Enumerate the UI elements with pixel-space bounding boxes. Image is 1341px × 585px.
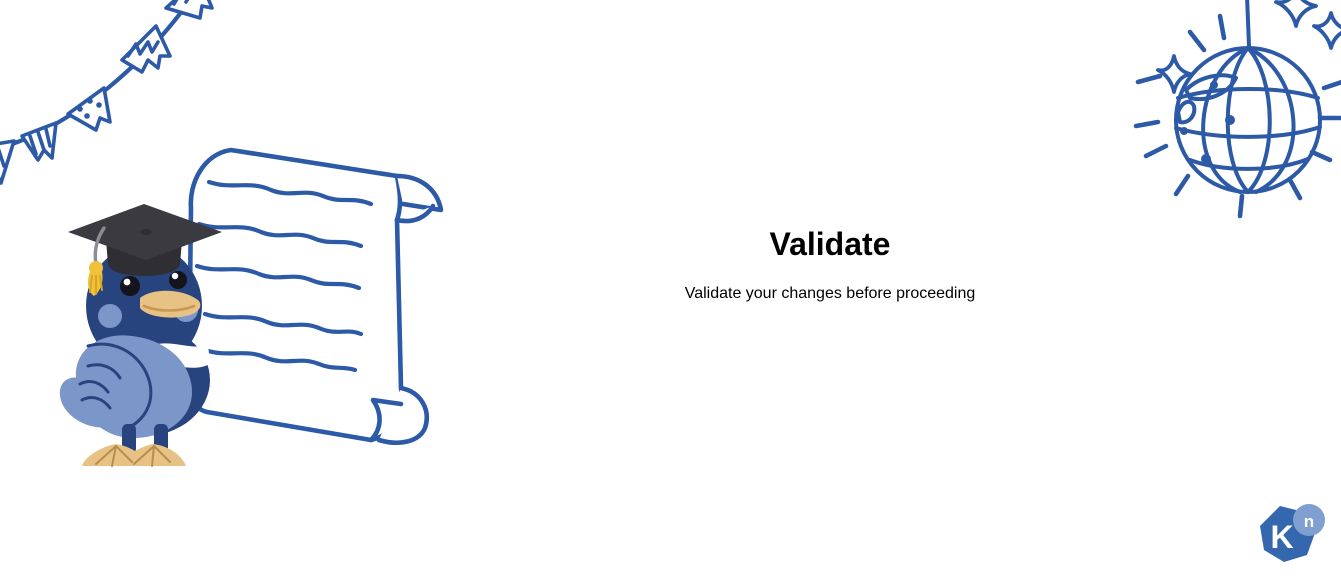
bunting-decoration-icon — [0, 0, 230, 185]
graduate-bird-mascot — [52, 188, 242, 473]
page-subtitle: Validate your changes before proceeding — [460, 285, 1200, 303]
disco-ball-decoration-icon — [1118, 0, 1341, 229]
slide-canvas: Validate Validate your changes before pr… — [0, 0, 1341, 585]
logo-mark-letter: K — [1270, 519, 1293, 555]
logo-badge-letter: n — [1304, 512, 1314, 531]
page-title: Validate — [460, 226, 1200, 263]
diploma-scroll-illustration — [175, 138, 475, 463]
kn-brand-logo: K n — [1252, 500, 1328, 572]
slide-text-block: Validate Validate your changes before pr… — [460, 205, 1200, 319]
